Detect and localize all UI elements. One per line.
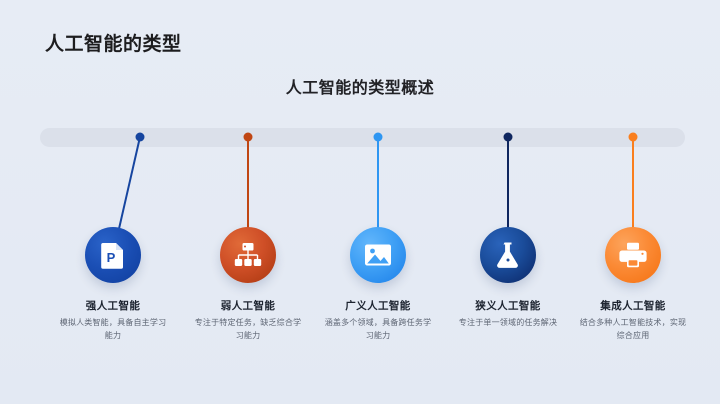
document-p-icon: P <box>100 241 126 269</box>
node-labels-1: 强人工智能 模拟人类智能，具备自主学习能力 <box>38 299 188 342</box>
page-title: 人工智能的类型 <box>45 29 182 56</box>
node-title: 弱人工智能 <box>173 299 323 313</box>
node-bubble-4[interactable] <box>480 227 536 283</box>
connector-layer <box>0 0 720 404</box>
node-labels-3: 广义人工智能 涵盖多个领域，具备跨任务学习能力 <box>303 299 453 342</box>
node-description: 结合多种人工智能技术，实现综合应用 <box>558 317 708 342</box>
svg-text:P: P <box>107 250 116 265</box>
node-description: 涵盖多个领域，具备跨任务学习能力 <box>303 317 453 342</box>
node-bubble-5[interactable] <box>605 227 661 283</box>
node-title: 集成人工智能 <box>558 299 708 313</box>
slide-canvas: 人工智能的类型 人工智能的类型概述 <box>0 0 720 404</box>
node-labels-2: 弱人工智能 专注于特定任务，缺乏综合学习能力 <box>173 299 323 342</box>
printer-icon <box>619 242 647 268</box>
page-subtitle: 人工智能的类型概述 <box>0 74 720 98</box>
node-title: 强人工智能 <box>38 299 188 313</box>
node-bubble-3[interactable] <box>350 227 406 283</box>
flask-icon <box>495 241 521 269</box>
node-labels-5: 集成人工智能 结合多种人工智能技术，实现综合应用 <box>558 299 708 342</box>
node-bubble-2[interactable] <box>220 227 276 283</box>
org-chart-icon <box>234 242 262 268</box>
node-bubble-1[interactable]: P <box>85 227 141 283</box>
image-icon <box>364 243 392 267</box>
node-description: 专注于特定任务，缺乏综合学习能力 <box>173 317 323 342</box>
node-description: 模拟人类智能，具备自主学习能力 <box>38 317 188 342</box>
timeline-rail <box>40 128 685 147</box>
node-title: 广义人工智能 <box>303 299 453 313</box>
